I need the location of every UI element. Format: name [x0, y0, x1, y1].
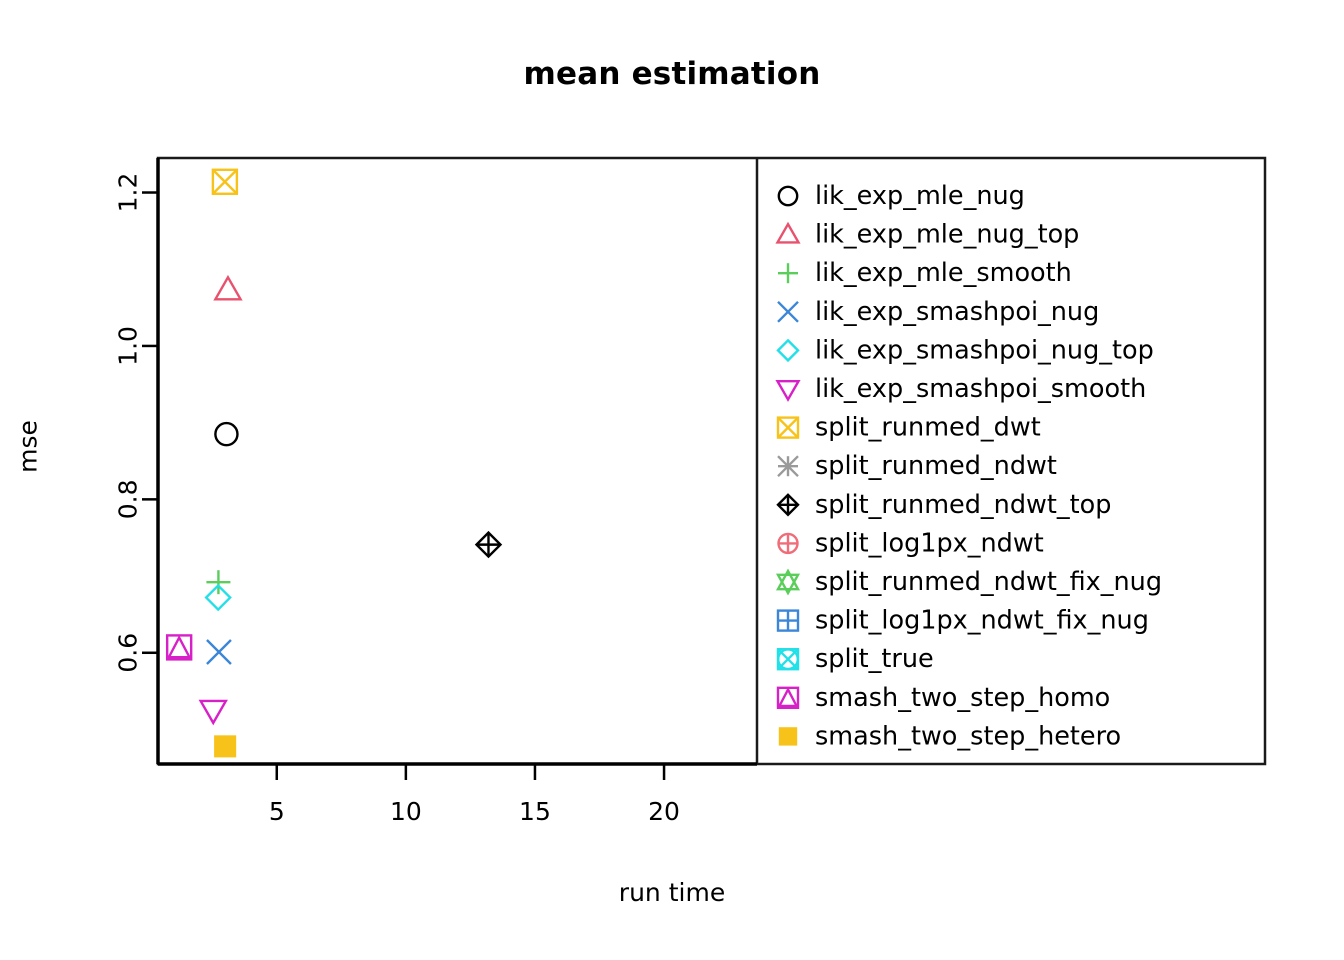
legend-item-label: smash_two_step_hetero [815, 721, 1121, 751]
legend-item[interactable]: split_log1px_ndwt [778, 528, 1044, 558]
data-point [207, 640, 231, 664]
chart-root: mean estimation run time mse 51015200.60… [0, 0, 1344, 960]
marker-cross [778, 302, 798, 322]
data-point [215, 277, 240, 299]
marker-square-cross [778, 418, 798, 438]
legend-item[interactable]: lik_exp_smashpoi_nug [778, 297, 1099, 327]
data-point [167, 635, 191, 659]
marker-asterisk [778, 456, 798, 476]
legend-item-label: lik_exp_mle_smooth [815, 258, 1072, 288]
y-tick-label: 0.6 [114, 633, 143, 673]
legend-item-label: lik_exp_mle_nug [815, 181, 1025, 211]
data-point [213, 170, 237, 194]
legend-item[interactable]: lik_exp_mle_nug [779, 181, 1025, 211]
legend-item[interactable]: split_runmed_dwt [778, 413, 1041, 443]
legend-item[interactable]: split_true [778, 644, 934, 674]
legend-item[interactable]: lik_exp_smashpoi_nug_top [778, 335, 1154, 365]
marker-square-plus [778, 611, 798, 631]
legend-item-label: split_log1px_ndwt [815, 528, 1044, 558]
legend-item[interactable]: lik_exp_mle_nug_top [778, 220, 1080, 250]
legend: lik_exp_mle_nuglik_exp_mle_nug_toplik_ex… [778, 181, 1163, 751]
x-tick-label: 15 [519, 797, 551, 826]
legend-item[interactable]: smash_two_step_homo [778, 683, 1110, 713]
legend-item[interactable]: lik_exp_mle_smooth [778, 258, 1072, 288]
marker-triangle-up [778, 224, 799, 242]
x-tick-label: 20 [648, 797, 680, 826]
legend-item[interactable]: split_runmed_ndwt_top [778, 490, 1111, 520]
legend-item-label: split_runmed_ndwt [815, 451, 1057, 481]
data-point [476, 533, 500, 557]
data-point [214, 735, 236, 757]
marker-square-cross-circle [778, 649, 798, 669]
legend-item-label: split_true [815, 644, 934, 674]
legend-item[interactable]: split_runmed_ndwt [778, 451, 1057, 481]
marker-square-triangle [778, 688, 798, 708]
outer-frame [158, 158, 1265, 764]
x-tick-label: 5 [269, 797, 285, 826]
marker-triangle-down [778, 381, 799, 399]
legend-item-label: lik_exp_smashpoi_nug [815, 297, 1099, 327]
legend-item-label: split_runmed_ndwt_fix_nug [815, 567, 1162, 597]
data-point [206, 570, 230, 594]
marker-circle [779, 187, 797, 205]
legend-item-label: split_runmed_ndwt_top [815, 490, 1111, 520]
marker-plus [778, 263, 798, 283]
legend-item-label: lik_exp_mle_nug_top [815, 220, 1079, 250]
legend-item[interactable]: split_runmed_ndwt_fix_nug [778, 567, 1162, 597]
data-points [167, 170, 500, 758]
marker-diamond-plus [778, 495, 798, 515]
legend-item-label: lik_exp_smashpoi_nug_top [815, 335, 1154, 365]
marker-circle-plus [778, 533, 798, 553]
axis-ticks: 51015200.60.81.01.2 [114, 173, 680, 826]
legend-item-label: lik_exp_smashpoi_smooth [815, 374, 1146, 404]
y-tick-label: 1.2 [114, 173, 143, 213]
chart-canvas: 51015200.60.81.01.2 lik_exp_mle_nuglik_e… [0, 0, 1344, 960]
legend-item-label: split_log1px_ndwt_fix_nug [815, 606, 1149, 636]
y-tick-label: 0.8 [114, 479, 143, 519]
legend-item[interactable]: split_log1px_ndwt_fix_nug [778, 606, 1149, 636]
x-tick-label: 10 [390, 797, 422, 826]
marker-star-outline [778, 571, 798, 593]
legend-item[interactable]: smash_two_step_hetero [779, 721, 1121, 751]
data-point [201, 701, 226, 723]
marker-diamond [778, 340, 798, 360]
legend-item-label: split_runmed_dwt [815, 413, 1041, 443]
y-tick-label: 1.0 [114, 326, 143, 366]
data-point [215, 423, 237, 445]
plot-frame [158, 158, 1265, 764]
marker-square-filled [779, 727, 797, 745]
legend-item-label: smash_two_step_homo [815, 683, 1110, 713]
legend-item[interactable]: lik_exp_smashpoi_smooth [778, 374, 1147, 404]
